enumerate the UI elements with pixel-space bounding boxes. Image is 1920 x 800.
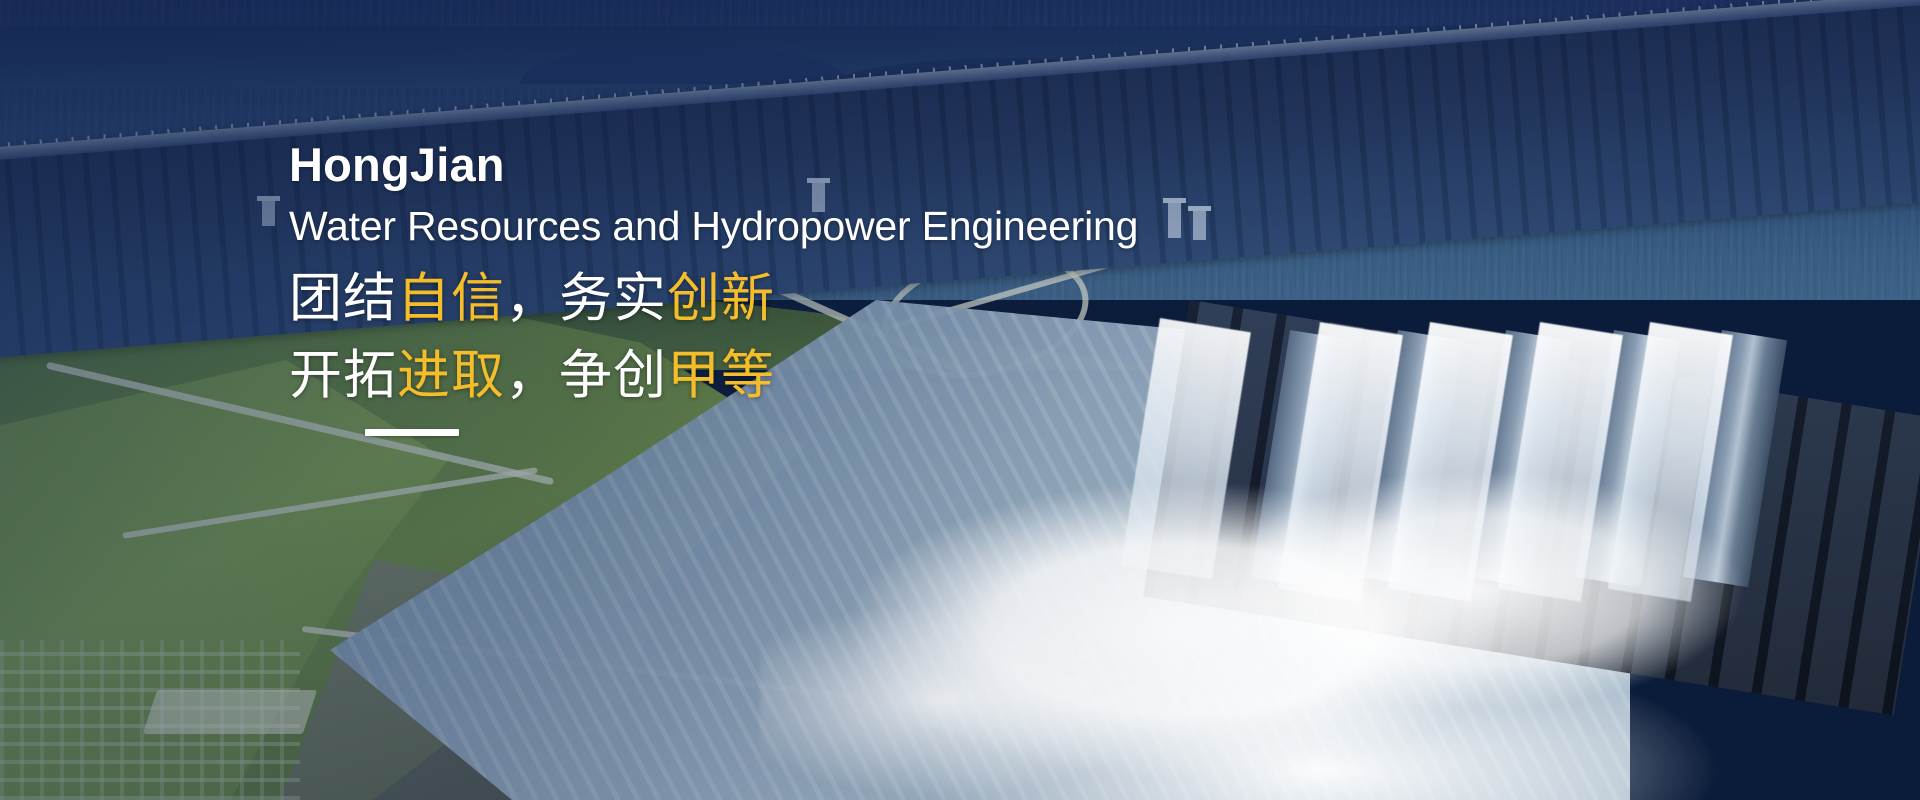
slogan-l1-highlight1: 自信 [397, 269, 505, 328]
slogan-line-2: 开拓进取，争创甲等 [289, 337, 1289, 414]
slogan-l2-highlight2: 甲等 [667, 346, 775, 405]
brand-subtitle: Water Resources and Hydropower Engineeri… [289, 204, 1289, 250]
slogan-l1-part3: ，务实 [505, 269, 667, 328]
slogan-line-1: 团结自信，务实创新 [289, 260, 1289, 337]
slogan-l1-highlight2: 创新 [667, 269, 775, 328]
brand-title: HongJian [289, 138, 1289, 192]
slogan-l1-part1: 团结 [289, 269, 397, 328]
slogan-l2-part1: 开拓 [289, 346, 397, 405]
decorative-underline [365, 429, 459, 436]
banner-text-block: HongJian Water Resources and Hydropower … [289, 138, 1289, 436]
slogan-block: 团结自信，务实创新 开拓进取，争创甲等 [289, 260, 1289, 415]
slogan-l2-part3: ，争创 [505, 346, 667, 405]
slogan-l2-highlight1: 进取 [397, 346, 505, 405]
hero-banner: HongJian Water Resources and Hydropower … [0, 0, 1920, 800]
